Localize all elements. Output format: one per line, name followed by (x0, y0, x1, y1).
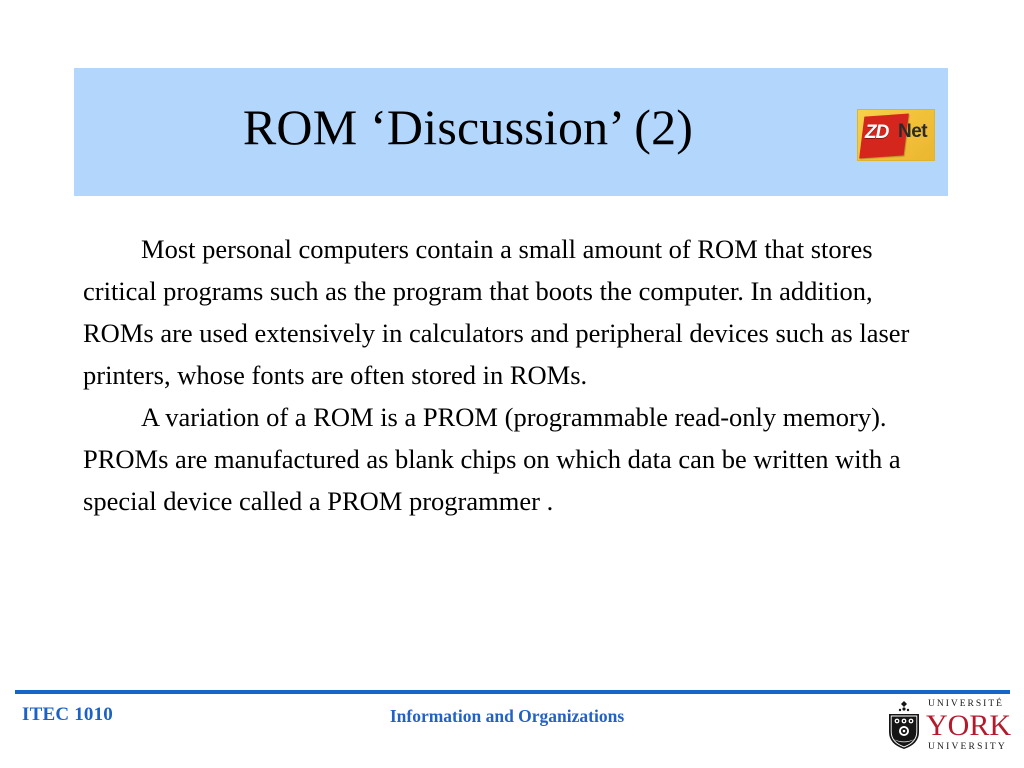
zdnet-logo: ZD Net (857, 109, 935, 161)
footer-divider (15, 690, 1010, 694)
slide-title: ROM ‘Discussion’ (2) (74, 96, 948, 158)
body-paragraph-2: A variation of a ROM is a PROM (programm… (83, 396, 935, 522)
footer-course-title: Information and Organizations (0, 706, 1024, 727)
zdnet-zd-text: ZD (865, 123, 888, 142)
slide-canvas: ROM ‘Discussion’ (2) ZD Net Most persona… (0, 0, 1024, 768)
slide-body: Most personal computers contain a small … (83, 228, 943, 522)
york-main-text: YORK (926, 710, 1020, 741)
york-university-logo: UNIVERSITÉ YORK UNIVERSITY (886, 698, 1020, 754)
york-crest-icon (886, 700, 922, 750)
slide-title-band: ROM ‘Discussion’ (2) ZD Net (74, 68, 948, 196)
york-logo-wordmark: UNIVERSITÉ YORK UNIVERSITY (926, 698, 1020, 753)
body-paragraph-1: Most personal computers contain a small … (83, 228, 935, 396)
zdnet-net-text: Net (898, 122, 927, 141)
york-university-text: UNIVERSITY (926, 741, 1020, 753)
